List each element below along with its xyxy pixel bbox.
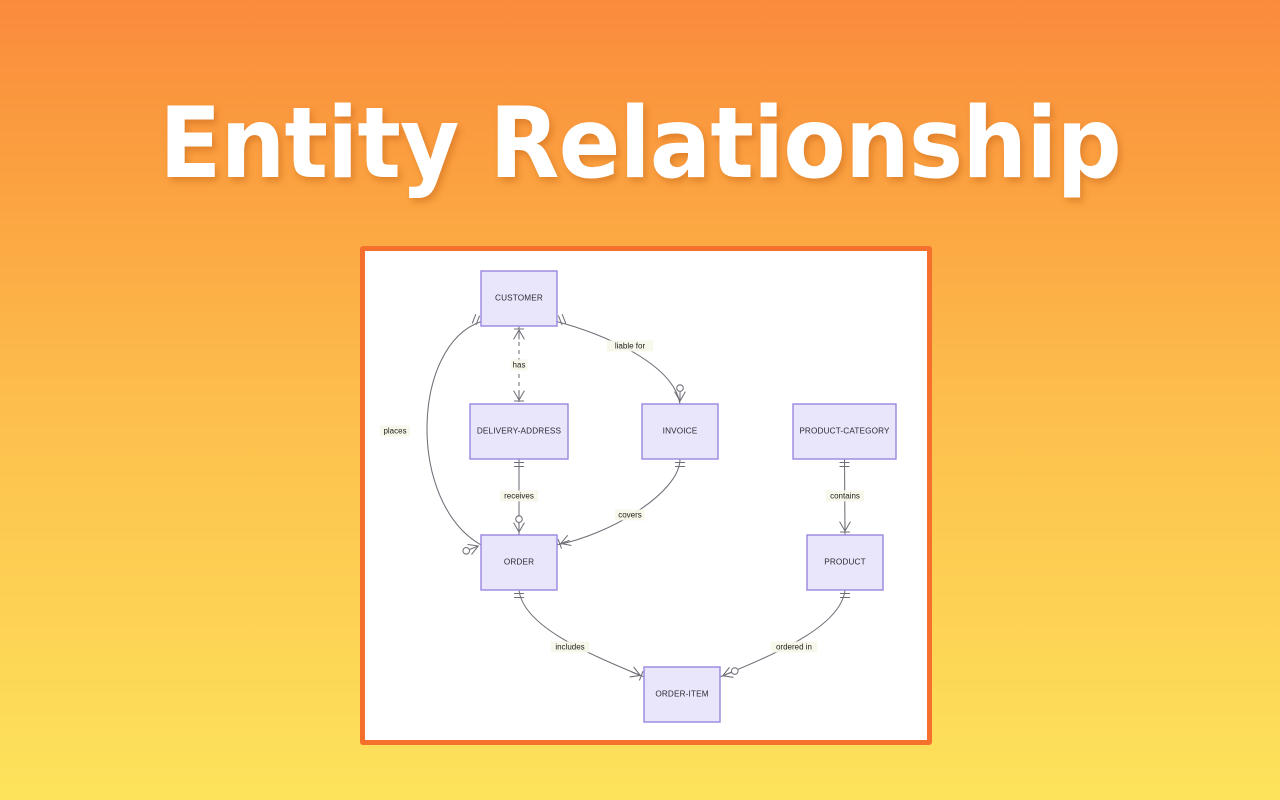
relationship-line-liable-for [557,322,680,404]
cardinality-has-to [514,391,524,401]
cardinality-ordered-in-from [840,594,849,598]
entity-order[interactable]: ORDER [481,535,557,590]
relationship-label-places: places [380,425,410,436]
cardinality-ordered-in-to [723,668,738,678]
relationship-label-receives: receives [500,490,538,501]
relationship-line-covers [557,459,680,545]
relationship-label-includes: includes [551,641,589,652]
entity-delivery-address[interactable]: DELIVERY-ADDRESS [470,404,568,459]
cardinality-places-to [463,545,478,555]
cardinality-includes-to [630,667,643,680]
entity-label-product: PRODUCT [824,558,866,567]
entity-product-category[interactable]: PRODUCT-CATEGORY [793,404,896,459]
relationship-label-covers: covers [615,509,645,520]
entity-order-item[interactable]: ORDER-ITEM [644,667,720,722]
svg-text:has: has [513,361,526,370]
cardinality-receives-to [514,516,524,532]
relationship-ordered-in[interactable] [720,590,850,677]
svg-text:contains: contains [830,492,860,501]
entity-invoice[interactable]: INVOICE [642,404,718,459]
entity-label-customer: CUSTOMER [495,294,543,303]
cardinality-includes-from [514,594,523,598]
svg-text:receives: receives [504,492,534,501]
cardinality-has-from [514,329,524,339]
svg-text:places: places [383,427,406,436]
relationship-label-ordered-in: ordered in [771,641,818,652]
svg-text:includes: includes [555,643,584,652]
entity-customer[interactable]: CUSTOMER [481,271,557,326]
entity-label-product-category: PRODUCT-CATEGORY [799,427,890,436]
relationship-label-liable-for: liable for [607,340,654,351]
page-title: Entity Relationship [45,88,1235,200]
svg-text:covers: covers [618,511,642,520]
svg-text:liable for: liable for [615,342,646,351]
cardinality-contains-to [840,522,850,532]
relationship-liable-for[interactable] [557,315,685,404]
relationship-line-ordered-in [720,590,845,677]
relationship-label-contains: contains [826,490,864,501]
entity-product[interactable]: PRODUCT [807,535,883,590]
svg-text:ordered in: ordered in [776,643,812,652]
entity-label-invoice: INVOICE [663,427,698,436]
relationship-line-includes [519,590,644,677]
er-diagram-frame: CUSTOMERDELIVERY-ADDRESSINVOICEPRODUCT-C… [360,246,932,745]
entity-label-order: ORDER [504,558,534,567]
entity-label-delivery-address: DELIVERY-ADDRESS [477,427,562,436]
relationship-covers[interactable] [557,459,685,548]
entity-label-order-item: ORDER-ITEM [655,690,708,699]
relationship-includes[interactable] [514,590,644,680]
er-diagram-canvas: CUSTOMERDELIVERY-ADDRESSINVOICEPRODUCT-C… [365,251,927,740]
relationship-label-has: has [511,359,528,370]
